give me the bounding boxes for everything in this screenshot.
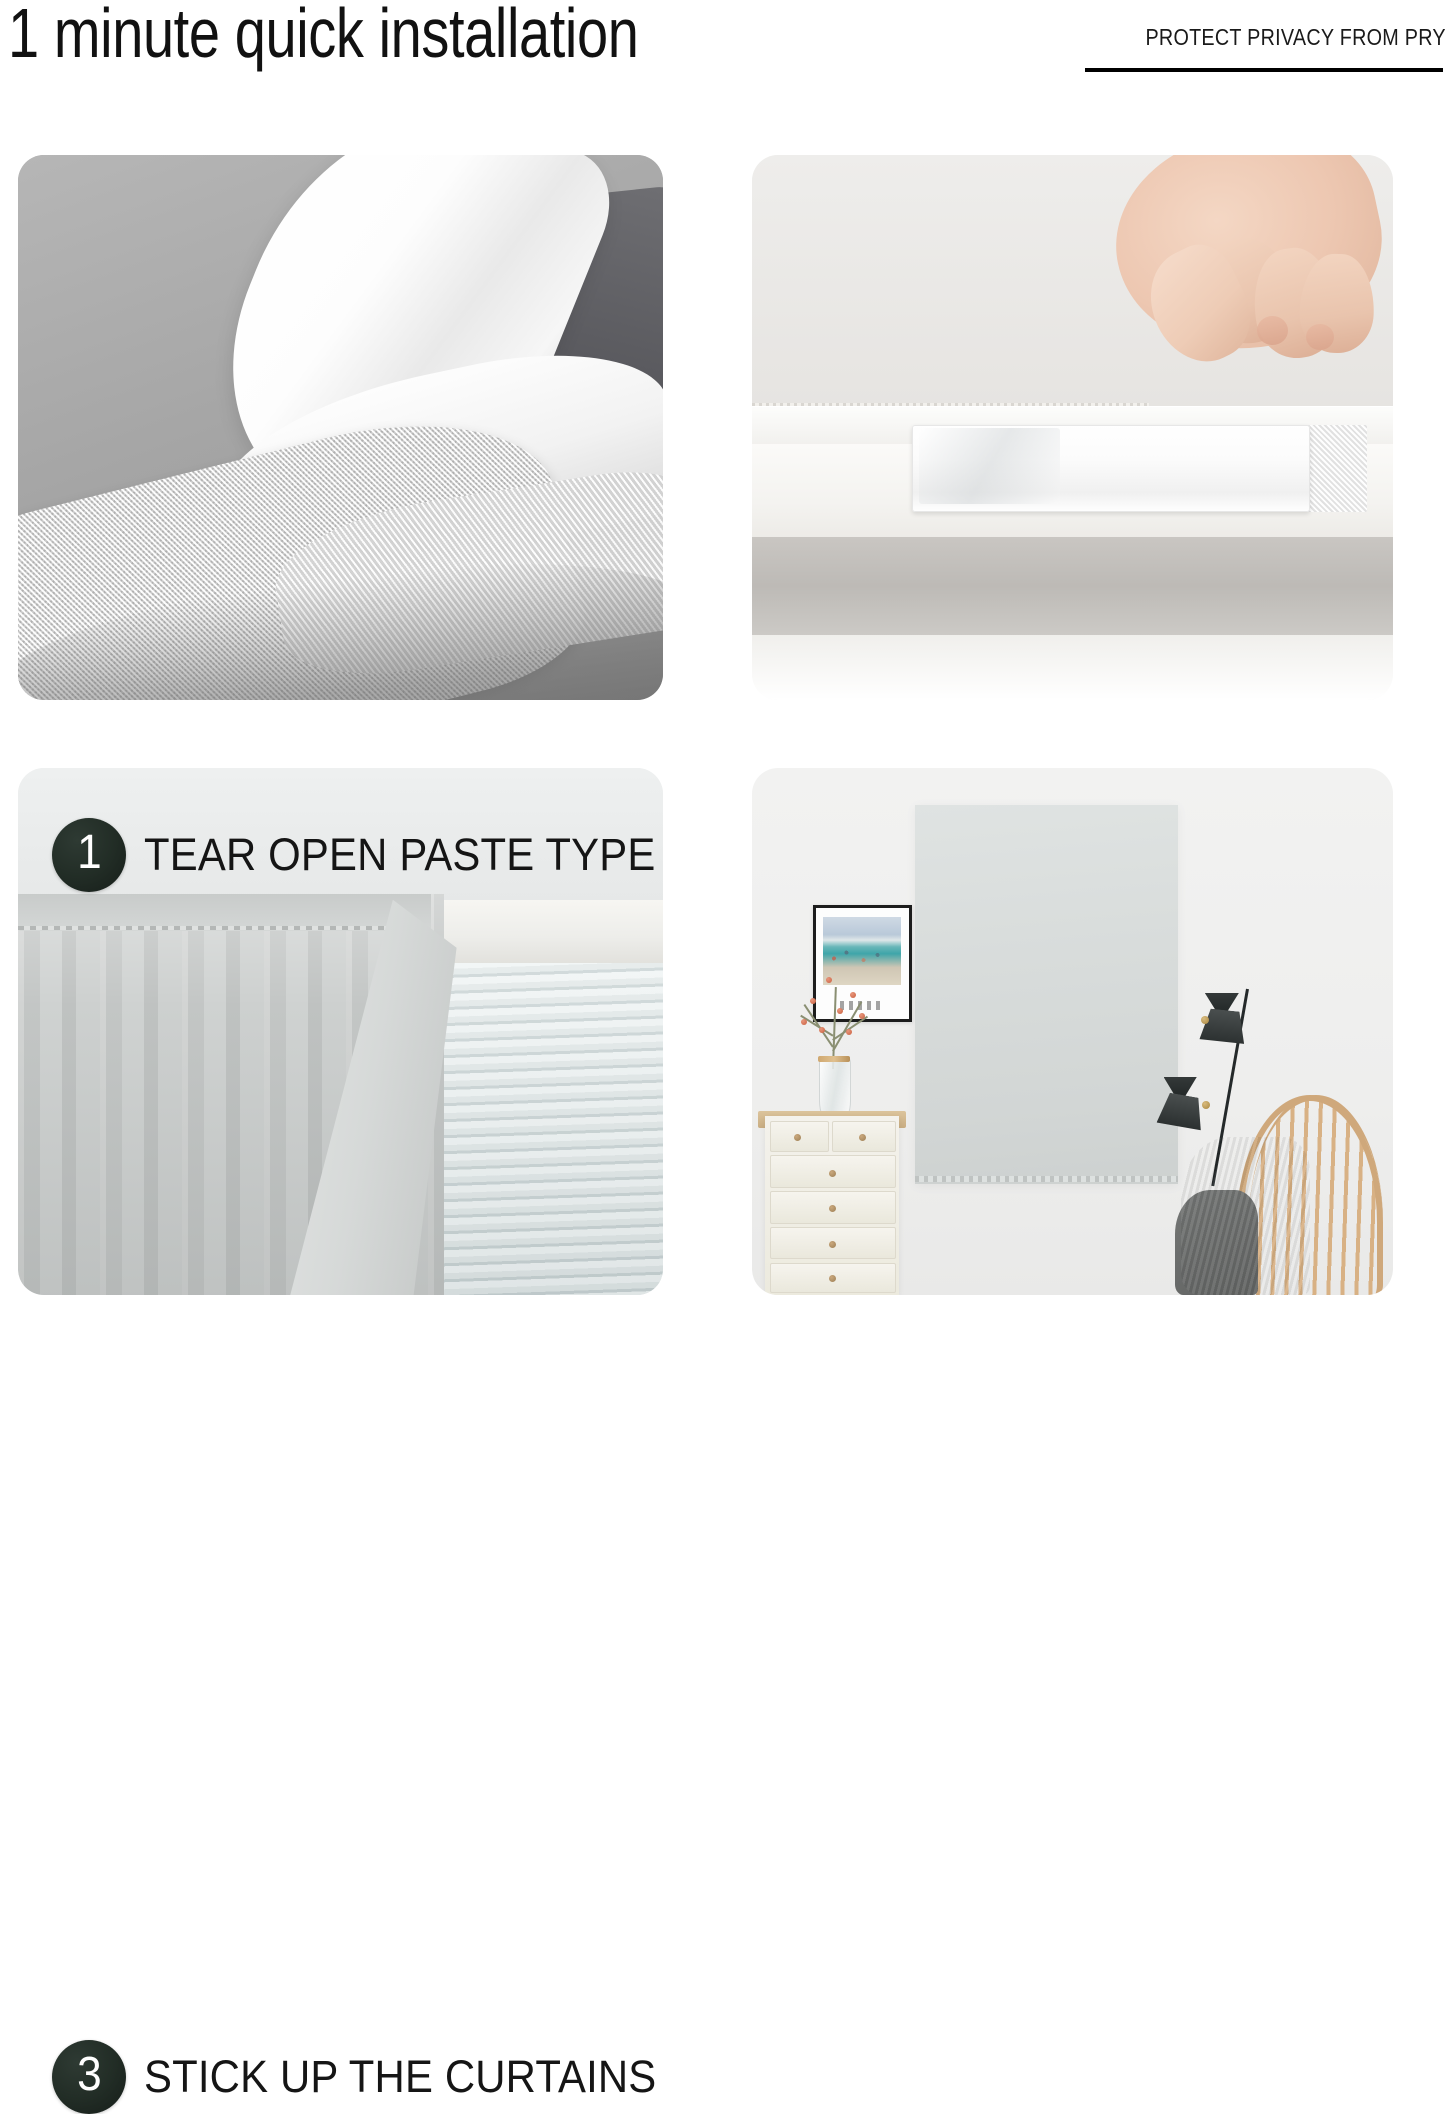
- dresser: [765, 1116, 900, 1295]
- steps-grid: 1 TEAR OPEN PASTE TYPE: [0, 0, 1445, 1455]
- gray-throw-blanket: [1181, 1137, 1309, 1295]
- step-photo-4: [752, 768, 1393, 1295]
- installed-curtain: [915, 805, 1178, 1184]
- step-number-badge-1: 1: [52, 818, 126, 892]
- step-card-1: 1 TEAR OPEN PASTE TYPE: [18, 155, 663, 755]
- velcro-tape-photo: [18, 155, 663, 700]
- hand-window-frame-photo: [752, 155, 1393, 700]
- step-caption-1: 1 TEAR OPEN PASTE TYPE: [52, 818, 694, 892]
- step-number-badge-3: 3: [52, 2040, 126, 2114]
- step-caption-3: 3 STICK UP THE CURTAINS: [52, 2040, 695, 2114]
- step-photo-1: [18, 155, 663, 700]
- hand-icon: [1073, 155, 1381, 395]
- step-caption-text-1: TEAR OPEN PASTE TYPE: [144, 829, 655, 881]
- step-number-1: 1: [77, 829, 102, 877]
- step-caption-text-3: STICK UP THE CURTAINS: [144, 2051, 656, 2103]
- step-card-4: 4 COMPLETE INSTALLATION: [752, 768, 1393, 1368]
- finished-room-photo: [752, 768, 1393, 1295]
- step-photo-2: [752, 155, 1393, 700]
- step-card-2: 2 PASTE ON THE CLEANED WINDOW FRAME: [752, 155, 1393, 755]
- step-number-3: 3: [77, 2051, 102, 2099]
- dried-flowers: [790, 974, 880, 1069]
